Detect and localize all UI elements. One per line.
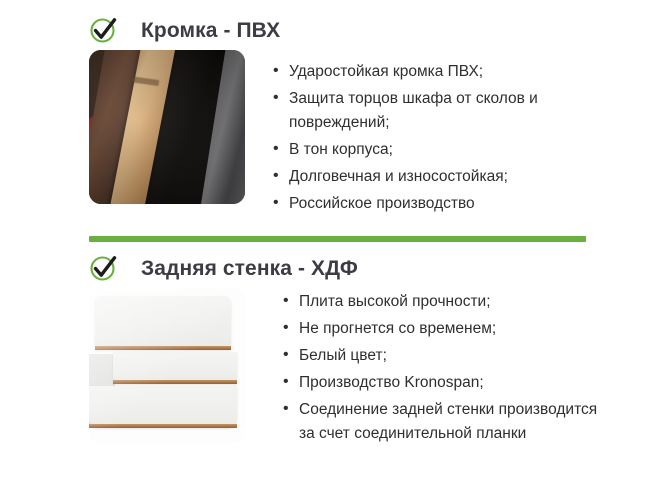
list-item: Долговечная и износостойкая; xyxy=(273,165,589,189)
section-heading-hdf: Задняя стенка - ХДФ xyxy=(0,248,652,288)
section-back-panel: Задняя стенка - ХДФ Плита высокой прочно… xyxy=(0,248,652,449)
list-item: Ударостойкая кромка ПВХ; xyxy=(273,60,589,84)
green-divider xyxy=(89,236,586,242)
hdf-panels-photo xyxy=(89,288,245,443)
list-item: Соединение задней стенки производится за… xyxy=(283,398,599,446)
feature-list-edge: Ударостойкая кромка ПВХ; Защита торцов ш… xyxy=(245,50,652,219)
list-item: Не прогнется со временем; xyxy=(283,317,599,341)
list-item: Защита торцов шкафа от сколов и поврежде… xyxy=(273,87,589,135)
section-edge-banding: Кромка - ПВХ Ударостойкая кромка ПВХ; За… xyxy=(0,10,652,219)
photo-vignette xyxy=(89,50,245,204)
product-features-page: Кромка - ПВХ Ударостойкая кромка ПВХ; За… xyxy=(0,0,652,500)
edge-banding-photo xyxy=(89,50,245,204)
list-item: В тон корпуса; xyxy=(273,138,589,162)
list-item: Российское производство xyxy=(273,192,589,216)
section-title-hdf: Задняя стенка - ХДФ xyxy=(141,258,358,279)
list-item: Белый цвет; xyxy=(283,344,599,368)
feature-list-hdf: Плита высокой прочности; Не прогнется со… xyxy=(245,288,652,449)
photo-highlight xyxy=(89,288,245,443)
section-title-edge: Кромка - ПВХ xyxy=(141,20,280,41)
list-item: Производство Kronospan; xyxy=(283,371,599,395)
section-body-hdf: Плита высокой прочности; Не прогнется со… xyxy=(0,288,652,449)
list-item: Плита высокой прочности; xyxy=(283,290,599,314)
section-heading-edge: Кромка - ПВХ xyxy=(0,10,652,50)
section-body-edge: Ударостойкая кромка ПВХ; Защита торцов ш… xyxy=(0,50,652,219)
green-check-circle-icon xyxy=(89,15,119,45)
green-check-circle-icon xyxy=(89,253,119,283)
